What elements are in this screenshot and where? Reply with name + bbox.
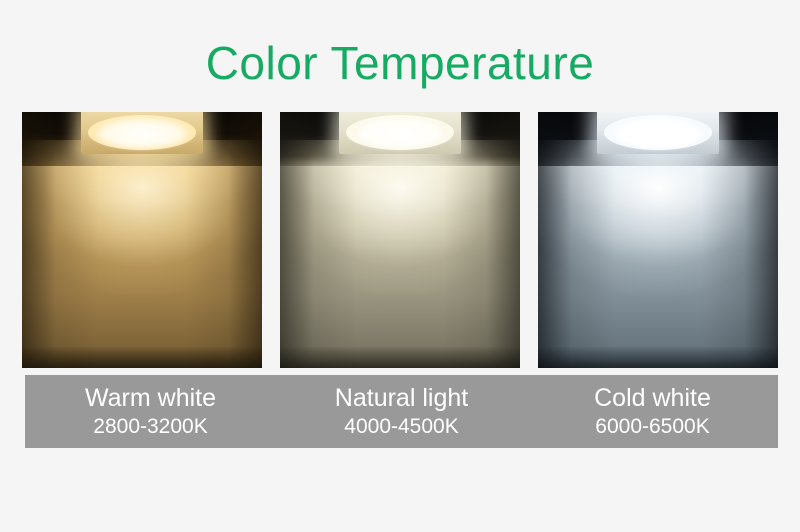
wall-surface-warm — [22, 152, 262, 368]
wall-surface-cold — [538, 152, 778, 368]
caption-natural-light: Natural light 4000-4500K — [276, 375, 527, 448]
caption-warm-white: Warm white 2800-3200K — [25, 375, 276, 448]
lamp-lens-core — [613, 120, 703, 148]
caption-band: Warm white 2800-3200K Natural light 4000… — [25, 375, 778, 448]
panel-row — [22, 112, 778, 368]
lamp-lens-core — [355, 120, 445, 148]
caption-kelvin-range: 2800-3200K — [25, 414, 276, 440]
floor-shadow-cold — [538, 346, 778, 368]
downlight-fixture-icon — [339, 112, 461, 154]
caption-cold-white: Cold white 6000-6500K — [527, 375, 778, 448]
floor-shadow-warm — [22, 346, 262, 368]
lamp-lens-core — [97, 120, 187, 148]
page-title: Color Temperature — [0, 40, 800, 86]
floor-shadow-natural — [280, 346, 520, 368]
caption-name: Cold white — [527, 383, 778, 413]
light-sample-cold-white — [538, 112, 778, 368]
downlight-fixture-icon — [597, 112, 719, 154]
light-sample-warm-white — [22, 112, 262, 368]
caption-kelvin-range: 6000-6500K — [527, 414, 778, 440]
caption-name: Warm white — [25, 383, 276, 413]
caption-name: Natural light — [276, 383, 527, 413]
wall-surface-natural — [280, 152, 520, 368]
light-sample-natural-light — [280, 112, 520, 368]
caption-kelvin-range: 4000-4500K — [276, 414, 527, 440]
downlight-fixture-icon — [81, 112, 203, 154]
